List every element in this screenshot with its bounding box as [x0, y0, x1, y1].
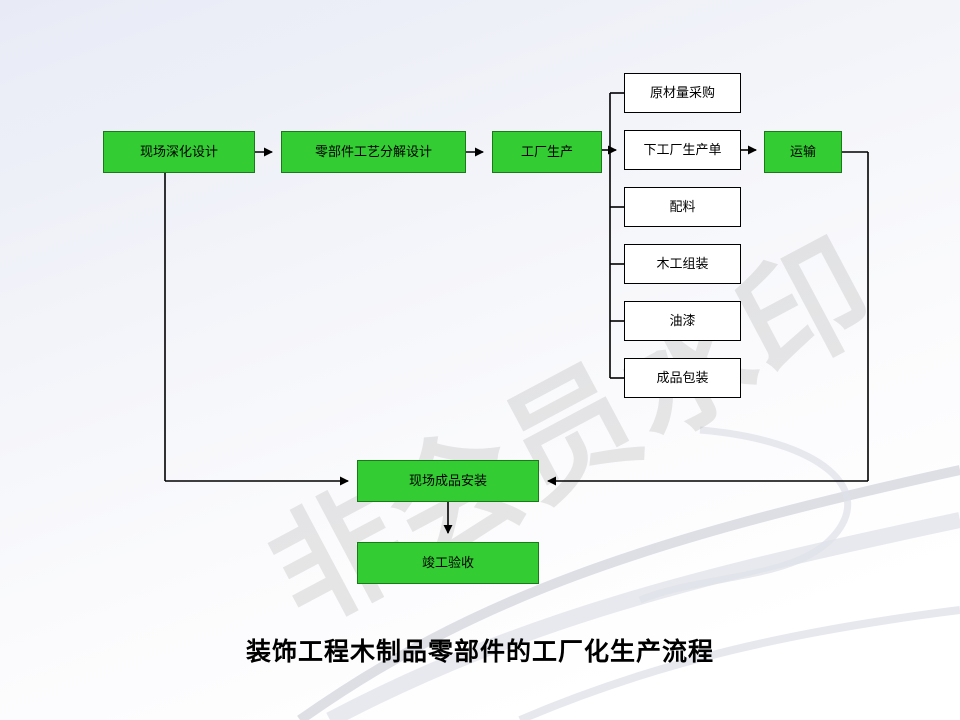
node-part-process-design[interactable]: 零部件工艺分解设计 [281, 131, 466, 173]
node-issue-production-order[interactable]: 下工厂生产单 [624, 130, 741, 170]
node-factory-production[interactable]: 工厂生产 [492, 131, 602, 173]
node-painting[interactable]: 油漆 [624, 301, 741, 341]
node-raw-material-purchase[interactable]: 原材量采购 [624, 73, 741, 113]
node-site-design[interactable]: 现场深化设计 [103, 131, 255, 173]
node-transport[interactable]: 运输 [764, 131, 842, 173]
node-finished-packaging[interactable]: 成品包装 [624, 358, 741, 398]
slide-canvas: 非会员水印 [0, 0, 960, 720]
node-material-preparation[interactable]: 配料 [624, 187, 741, 227]
node-carpentry-assembly[interactable]: 木工组装 [624, 244, 741, 284]
node-onsite-installation[interactable]: 现场成品安装 [357, 460, 539, 502]
watermark: 非会员水印 [233, 186, 903, 659]
slide-title: 装饰工程木制品零部件的工厂化生产流程 [0, 632, 960, 668]
node-completion-acceptance[interactable]: 竣工验收 [357, 542, 539, 584]
